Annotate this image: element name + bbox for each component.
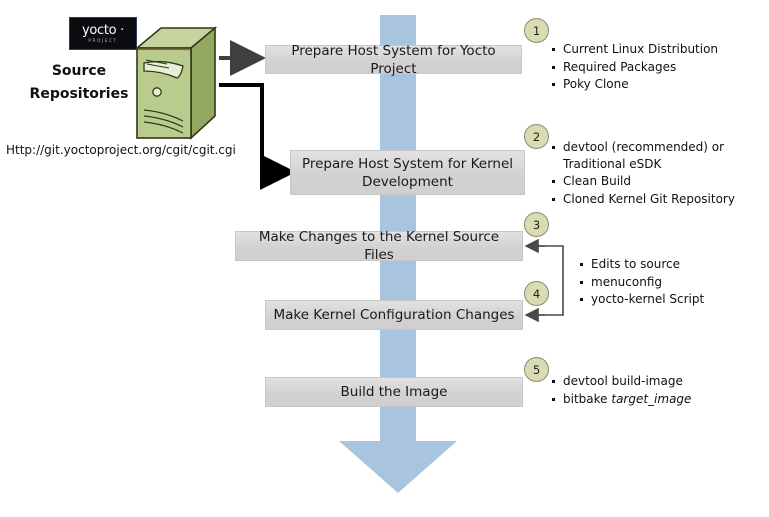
yocto-logo-wordmark: yocto · bbox=[82, 24, 124, 37]
source-repositories-url: Http://git.yoctoproject.org/cgit/cgit.cg… bbox=[6, 143, 236, 157]
process-flow-arrowhead-icon bbox=[339, 441, 457, 493]
source-label-line2: Repositories bbox=[18, 83, 140, 106]
list-item: devtool build-image bbox=[550, 373, 765, 390]
bitbake-command: bitbake bbox=[563, 392, 611, 406]
step-3-box[interactable]: Make Changes to the Kernel Source Files bbox=[235, 231, 523, 261]
step-1-number-badge: 1 bbox=[524, 18, 549, 43]
list-item: Required Packages bbox=[550, 59, 765, 76]
list-item: Current Linux Distribution bbox=[550, 41, 765, 58]
step-2-title: Prepare Host System for Kernel Developme… bbox=[297, 155, 518, 191]
server-tower-icon bbox=[133, 26, 219, 142]
step-4-number: 4 bbox=[533, 287, 540, 301]
list-item: Edits to source bbox=[578, 256, 769, 273]
step-3-number: 3 bbox=[533, 218, 540, 232]
step-2-bullets: devtool (recommended) or Traditional eSD… bbox=[550, 139, 765, 208]
yocto-logo-subtext: PROJECT bbox=[88, 37, 117, 44]
step-1-title: Prepare Host System for Yocto Project bbox=[272, 42, 515, 78]
step-3-number-badge: 3 bbox=[524, 212, 549, 237]
step-1-number: 1 bbox=[533, 24, 540, 38]
step-3-title: Make Changes to the Kernel Source Files bbox=[242, 228, 516, 264]
step-4-box[interactable]: Make Kernel Configuration Changes bbox=[265, 300, 523, 330]
list-item: yocto-kernel Script bbox=[578, 291, 769, 308]
list-item: Poky Clone bbox=[550, 76, 765, 93]
source-label-line1: Source bbox=[18, 60, 140, 83]
bitbake-target-placeholder: target_image bbox=[611, 392, 691, 406]
list-item: bitbake target_image bbox=[550, 391, 765, 408]
step-1-box[interactable]: Prepare Host System for Yocto Project bbox=[265, 45, 522, 74]
step-1-bullets: Current Linux Distribution Required Pack… bbox=[550, 41, 765, 94]
step-5-box[interactable]: Build the Image bbox=[265, 377, 523, 407]
step-2-box[interactable]: Prepare Host System for Kernel Developme… bbox=[290, 150, 525, 195]
source-repositories-label: Source Repositories bbox=[18, 60, 140, 106]
yocto-kernel-development-flow-diagram: yocto · PROJECT Source Repositories Http… bbox=[0, 0, 769, 517]
list-item: devtool (recommended) or Traditional eSD… bbox=[550, 139, 765, 172]
step-4-number-badge: 4 bbox=[524, 281, 549, 306]
step-5-title: Build the Image bbox=[341, 383, 448, 401]
step-4-title: Make Kernel Configuration Changes bbox=[273, 306, 514, 324]
list-item: Cloned Kernel Git Repository bbox=[550, 191, 765, 208]
list-item: menuconfig bbox=[578, 274, 769, 291]
step-2-number: 2 bbox=[533, 130, 540, 144]
step-5-number-badge: 5 bbox=[524, 357, 549, 382]
step-5-number: 5 bbox=[533, 363, 540, 377]
step-2-number-badge: 2 bbox=[524, 124, 549, 149]
step-5-bullets: devtool build-image bitbake target_image bbox=[550, 373, 765, 408]
yocto-project-logo: yocto · PROJECT bbox=[69, 17, 137, 50]
list-item: Clean Build bbox=[550, 173, 765, 190]
steps-3-4-shared-bullets: Edits to source menuconfig yocto-kernel … bbox=[578, 256, 769, 309]
